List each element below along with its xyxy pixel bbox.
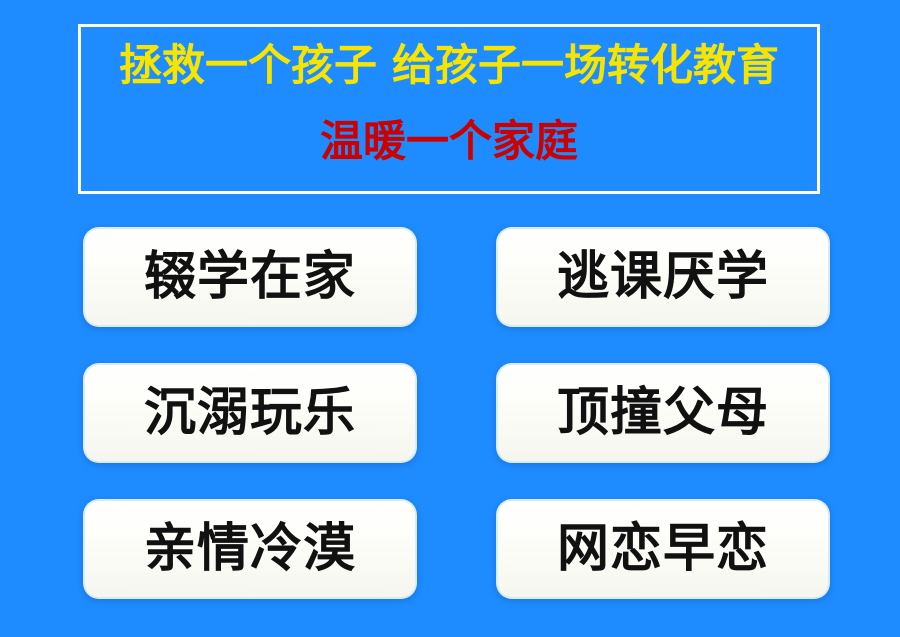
issue-card-family-indifference[interactable]: 亲情冷漠 — [85, 501, 415, 597]
issue-card-label: 顶撞父母 — [557, 387, 769, 439]
issue-card-grid: 辍学在家 逃课厌学 沉溺玩乐 顶撞父母 亲情冷漠 网恋早恋 — [85, 229, 828, 597]
issue-card-addicted-to-play[interactable]: 沉溺玩乐 — [85, 365, 415, 461]
headline-primary: 拯救一个孩子 给孩子一场转化教育 — [119, 45, 779, 88]
issue-card-label: 辍学在家 — [144, 251, 356, 303]
issue-card-label: 逃课厌学 — [557, 251, 769, 303]
issue-card-label: 沉溺玩乐 — [144, 387, 356, 439]
issue-card-label: 网恋早恋 — [557, 523, 769, 575]
issue-card-dropout-at-home[interactable]: 辍学在家 — [85, 229, 415, 325]
issue-card-online-early-romance[interactable]: 网恋早恋 — [498, 501, 828, 597]
headline-secondary: 温暖一个家庭 — [320, 121, 578, 164]
issue-card-defying-parents[interactable]: 顶撞父母 — [498, 365, 828, 461]
issue-card-label: 亲情冷漠 — [144, 523, 356, 575]
issue-card-truancy-school-aversion[interactable]: 逃课厌学 — [498, 229, 828, 325]
header-banner: 拯救一个孩子 给孩子一场转化教育 温暖一个家庭 — [78, 24, 820, 194]
